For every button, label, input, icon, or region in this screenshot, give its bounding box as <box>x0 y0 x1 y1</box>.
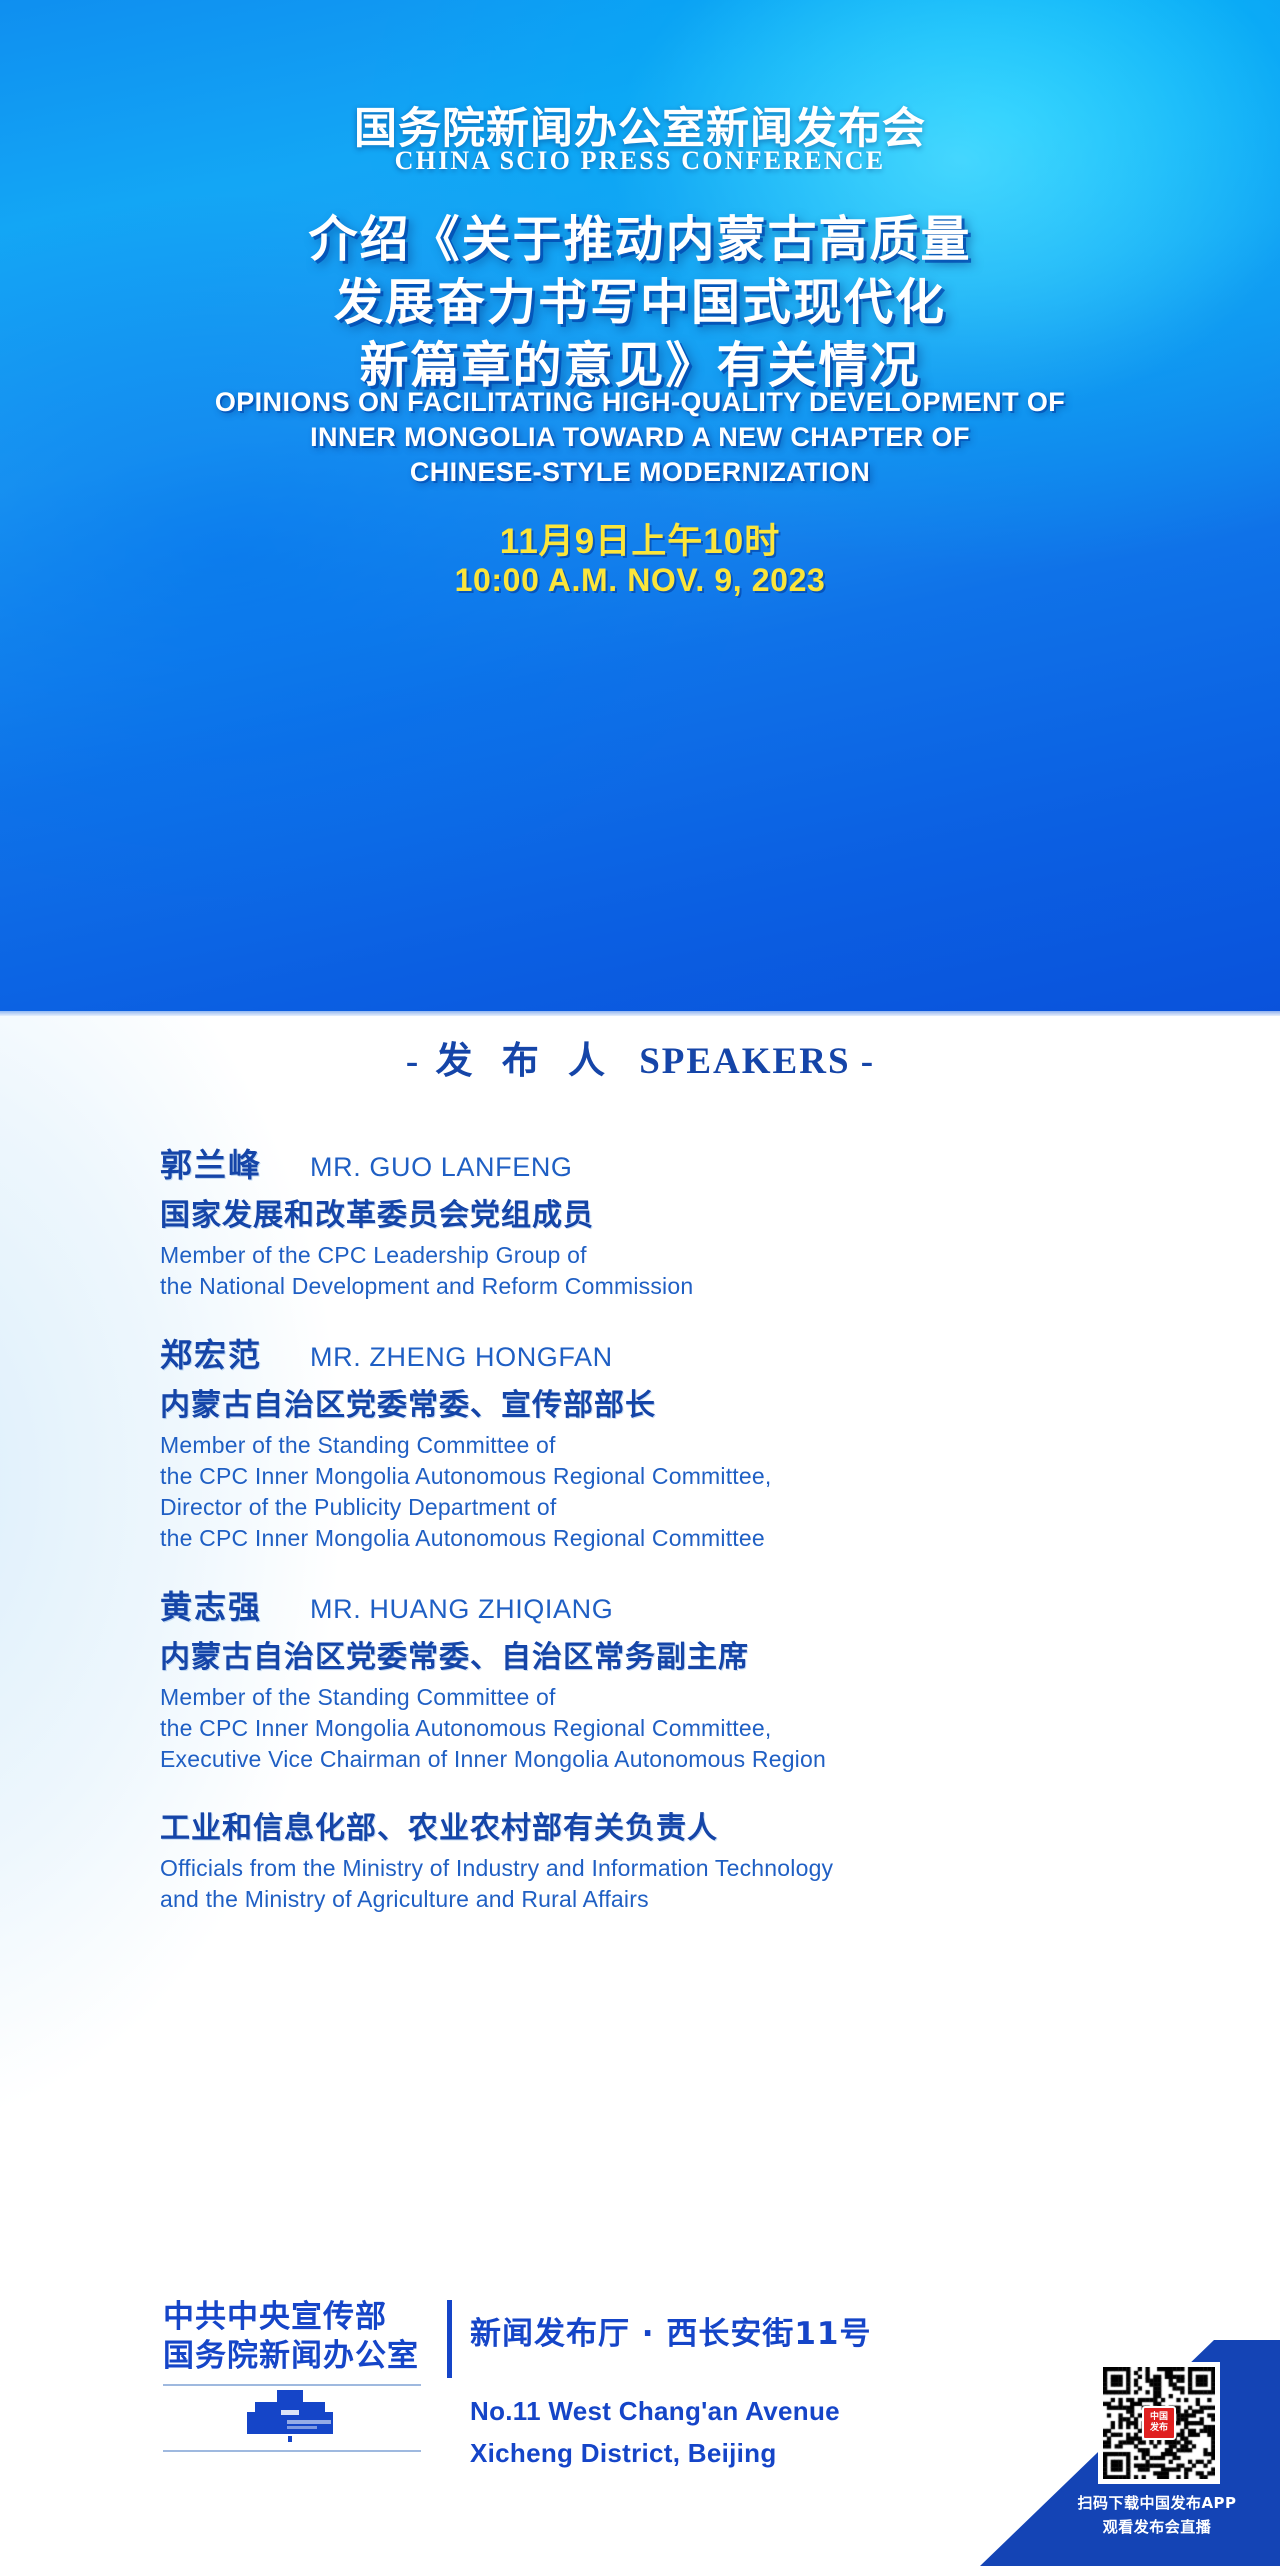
speaker-title-english-line: the CPC Inner Mongolia Autonomous Region… <box>160 1461 1160 1492</box>
speaker-title-english-line: the CPC Inner Mongolia Autonomous Region… <box>160 1523 1160 1554</box>
speaker-name-row: 郭兰峰 MR. GUO LANFENG <box>160 1140 1160 1186</box>
speaker-title-english: Member of the Standing Committee of the … <box>160 1430 1160 1554</box>
qr-badge-line-1: 中国 <box>1150 2412 1168 2423</box>
logo-text-line-1: 中共中央宣传部 <box>163 2298 433 2337</box>
qr-wedge-area: 中国 发布 扫码下载中国发布APP 观看发布会直播 <box>980 2340 1280 2566</box>
speaker-title-english: Officials from the Ministry of Industry … <box>160 1853 1160 1915</box>
conference-title-chinese-line-2: 发展奋力书写中国式现代化 <box>0 271 1280 334</box>
logo-divider-bottom <box>163 2450 421 2452</box>
speaker-name-english: MR. ZHENG HONGFAN <box>310 1342 613 1373</box>
speaker-title-chinese: 工业和信息化部、农业农村部有关负责人 <box>160 1803 1160 1847</box>
speakers-heading-dash-left: - <box>406 1041 419 1082</box>
speaker-name-chinese: 郑宏范 <box>160 1330 262 1376</box>
qr-caption-line-1: 扫码下载中国发布APP <box>980 2492 1280 2513</box>
conference-title-english-line-1: OPINIONS ON FACILITATING HIGH-QUALITY DE… <box>0 385 1280 420</box>
speakers-heading-chinese: 发 布 人 <box>435 1041 615 1082</box>
conference-title-english: OPINIONS ON FACILITATING HIGH-QUALITY DE… <box>0 385 1280 490</box>
speaker-title-english-line: Member of the CPC Leadership Group of <box>160 1240 1160 1271</box>
speaker-entry: 黄志强 MR. HUANG ZHIQIANG 内蒙古自治区党委常委、自治区常务副… <box>160 1582 1160 1775</box>
event-datetime-english: 10:00 A.M. NOV. 9, 2023 <box>0 562 1280 599</box>
speaker-title-english-line: Officials from the Ministry of Industry … <box>160 1853 1160 1884</box>
logo-text-line-2: 国务院新闻办公室 <box>163 2337 433 2376</box>
speaker-title-english-line: the National Development and Reform Comm… <box>160 1271 1160 1302</box>
qr-code-matrix: 中国 发布 <box>1103 2367 1215 2479</box>
qr-badge-line-2: 发布 <box>1150 2423 1168 2434</box>
speaker-name-english: MR. HUANG ZHIQIANG <box>310 1594 613 1625</box>
venue-address-english-line-1: No.11 West Chang'an Avenue <box>470 2390 840 2432</box>
venue-address-chinese: 新闻发布厅 · 西长安街11号 <box>470 2308 872 2353</box>
speaker-title-english-line: Member of the Standing Committee of <box>160 1430 1160 1461</box>
speakers-heading-english: SPEAKERS <box>639 1041 850 1082</box>
speaker-title-english: Member of the CPC Leadership Group of th… <box>160 1240 1160 1302</box>
speaker-name-row: 黄志强 MR. HUANG ZHIQIANG <box>160 1582 1160 1628</box>
speaker-entry: 郭兰峰 MR. GUO LANFENG 国家发展和改革委员会党组成员 Membe… <box>160 1140 1160 1302</box>
qr-code[interactable]: 中国 发布 <box>1098 2362 1220 2484</box>
conference-title-chinese: 介绍《关于推动内蒙古高质量 发展奋力书写中国式现代化 新篇章的意见》有关情况 <box>0 208 1280 397</box>
speaker-name-chinese: 黄志强 <box>160 1582 262 1628</box>
speaker-name-chinese: 郭兰峰 <box>160 1140 262 1186</box>
speakers-heading-dash-right: - <box>861 1041 874 1082</box>
organizer-title-english: CHINA SCIO PRESS CONFERENCE <box>0 146 1280 176</box>
podium-icon <box>163 2386 421 2450</box>
speaker-name-english: MR. GUO LANFENG <box>310 1152 573 1183</box>
speaker-title-english-line: Member of the Standing Committee of <box>160 1682 1160 1713</box>
venue-address-english: No.11 West Chang'an Avenue Xicheng Distr… <box>470 2390 840 2474</box>
conference-title-chinese-line-1: 介绍《关于推动内蒙古高质量 <box>0 208 1280 271</box>
speaker-title-chinese: 国家发展和改革委员会党组成员 <box>160 1190 1160 1234</box>
conference-title-english-line-2: INNER MONGOLIA TOWARD A NEW CHAPTER OF <box>0 420 1280 455</box>
speaker-title-chinese: 内蒙古自治区党委常委、宣传部部长 <box>160 1380 1160 1424</box>
footer: 中共中央宣传部 国务院新闻办公室 新闻发布厅 · 西长安街11号 No.11 W… <box>0 2290 1280 2566</box>
footer-vertical-divider <box>447 2300 452 2378</box>
speaker-title-english-line: Director of the Publicity Department of <box>160 1492 1160 1523</box>
venue-address-english-line-2: Xicheng District, Beijing <box>470 2432 840 2474</box>
speaker-title-english-line: Executive Vice Chairman of Inner Mongoli… <box>160 1744 1160 1775</box>
organizer-logo-block: 中共中央宣传部 国务院新闻办公室 <box>163 2298 433 2452</box>
speaker-entry: 工业和信息化部、农业农村部有关负责人 Officials from the Mi… <box>160 1803 1160 1915</box>
speakers-list: 郭兰峰 MR. GUO LANFENG 国家发展和改革委员会党组成员 Membe… <box>160 1140 1160 1943</box>
speaker-name-row: 郑宏范 MR. ZHENG HONGFAN <box>160 1330 1160 1376</box>
speaker-title-english-line: and the Ministry of Agriculture and Rura… <box>160 1884 1160 1915</box>
conference-title-english-line-3: CHINESE-STYLE MODERNIZATION <box>0 455 1280 490</box>
speakers-heading: - 发 布 人 SPEAKERS - <box>0 1030 1280 1084</box>
speaker-title-english-line: the CPC Inner Mongolia Autonomous Region… <box>160 1713 1160 1744</box>
speaker-title-chinese: 内蒙古自治区党委常委、自治区常务副主席 <box>160 1632 1160 1676</box>
hero-banner: 国务院新闻办公室新闻发布会 CHINA SCIO PRESS CONFERENC… <box>0 0 1280 1016</box>
event-datetime-chinese: 11月9日上午10时 <box>0 513 1280 564</box>
qr-caption-line-2: 观看发布会直播 <box>980 2516 1280 2537</box>
qr-center-badge: 中国 发布 <box>1142 2406 1176 2440</box>
speaker-title-english: Member of the Standing Committee of the … <box>160 1682 1160 1775</box>
speaker-entry: 郑宏范 MR. ZHENG HONGFAN 内蒙古自治区党委常委、宣传部部长 M… <box>160 1330 1160 1554</box>
